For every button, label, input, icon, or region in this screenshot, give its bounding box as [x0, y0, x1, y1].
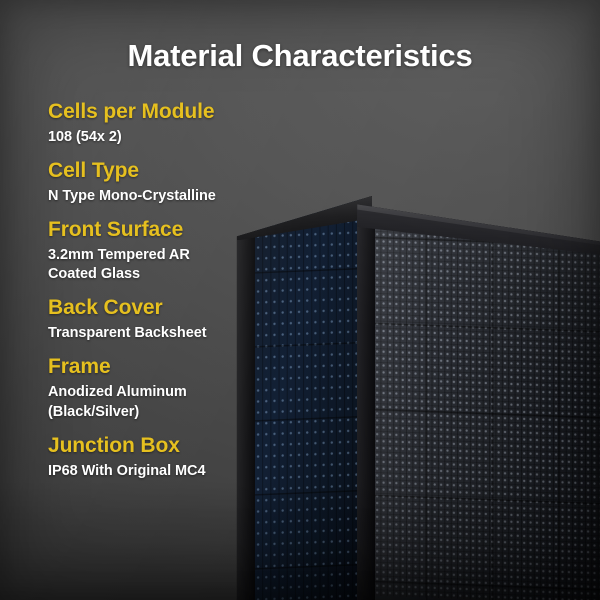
content-layer: Material Characteristics Cells per Modul…: [0, 0, 600, 600]
spec-label: Frame: [48, 355, 288, 380]
spec-item-junction-box: Junction Box IP68 With Original MC4: [48, 434, 288, 481]
spec-value: IP68 With Original MC4: [48, 462, 288, 481]
spec-label: Back Cover: [48, 296, 288, 321]
page-title: Material Characteristics: [0, 38, 600, 74]
spec-item-frame: Frame Anodized Aluminum (Black/Silver): [48, 355, 288, 421]
spec-label: Junction Box: [48, 434, 288, 459]
marketing-spec-card: Material Characteristics Cells per Modul…: [0, 0, 600, 600]
spec-value: 108 (54x 2): [48, 128, 288, 147]
spec-label: Front Surface: [48, 218, 288, 243]
spec-item-back-cover: Back Cover Transparent Backsheet: [48, 296, 288, 343]
specification-list: Cells per Module 108 (54x 2) Cell Type N…: [48, 100, 288, 493]
spec-label: Cell Type: [48, 159, 288, 184]
spec-item-front-surface: Front Surface 3.2mm Tempered AR Coated G…: [48, 218, 288, 284]
spec-label: Cells per Module: [48, 100, 288, 125]
spec-item-cell-type: Cell Type N Type Mono-Crystalline: [48, 159, 288, 206]
spec-value: Anodized Aluminum (Black/Silver): [48, 383, 288, 422]
spec-value: 3.2mm Tempered AR Coated Glass: [48, 246, 288, 285]
spec-value: N Type Mono-Crystalline: [48, 187, 288, 206]
spec-item-cells-per-module: Cells per Module 108 (54x 2): [48, 100, 288, 147]
spec-value: Transparent Backsheet: [48, 324, 288, 343]
